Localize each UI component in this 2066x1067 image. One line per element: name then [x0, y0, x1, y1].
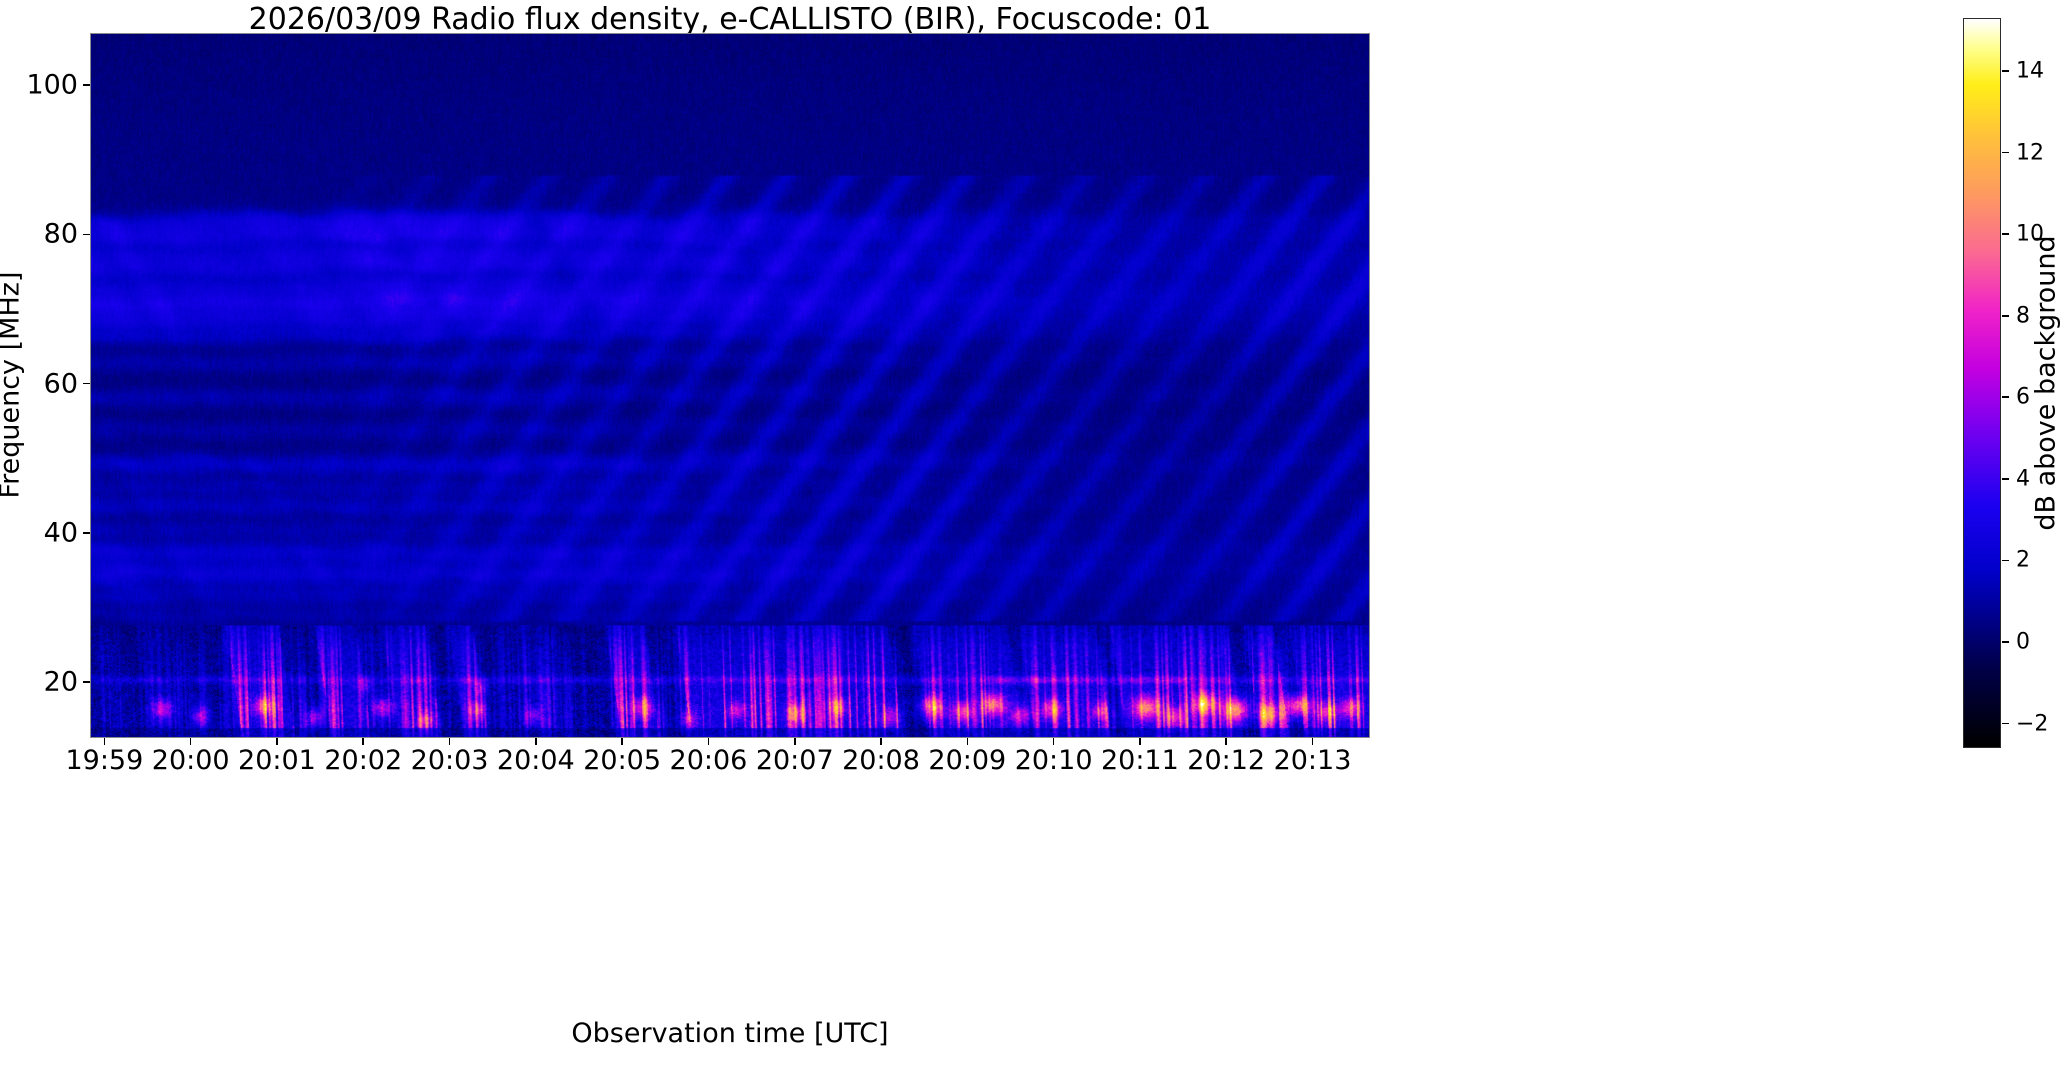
x-tick-mark — [1053, 738, 1055, 745]
x-tick-label: 20:05 — [583, 745, 661, 776]
colorbar-tick-mark — [2002, 723, 2009, 725]
colorbar-tick-label: 12 — [2016, 140, 2044, 165]
colorbar-tick-mark — [2002, 152, 2009, 154]
colorbar-tick-mark — [2002, 233, 2009, 235]
page-title: 2026/03/09 Radio flux density, e-CALLIST… — [90, 2, 1370, 37]
colorbar-tick-label: −2 — [2016, 711, 2048, 736]
figure-canvas: 2026/03/09 Radio flux density, e-CALLIST… — [0, 0, 2066, 1067]
colorbar-tick-label: 14 — [2016, 59, 2044, 84]
y-tick-mark — [83, 84, 90, 86]
x-axis-label: Observation time [UTC] — [90, 1018, 1370, 1049]
x-tick-mark — [449, 738, 451, 745]
y-axis-label: Frequency [MHz] — [0, 272, 26, 499]
x-tick-label: 20:07 — [756, 745, 834, 776]
x-tick-mark — [1139, 738, 1141, 745]
x-tick-label: 20:13 — [1274, 745, 1352, 776]
colorbar-gradient — [1964, 19, 2000, 747]
x-tick-mark — [104, 738, 106, 745]
y-tick-label: 40 — [44, 517, 78, 548]
x-tick-label: 20:02 — [324, 745, 402, 776]
x-tick-label: 20:09 — [928, 745, 1006, 776]
x-tick-label: 19:59 — [65, 745, 143, 776]
colorbar-tick-label: 0 — [2016, 629, 2030, 654]
y-tick-label: 80 — [44, 219, 78, 250]
x-tick-mark — [362, 738, 364, 745]
colorbar-tick-label: 4 — [2016, 466, 2030, 491]
y-tick-mark — [83, 383, 90, 385]
x-tick-mark — [794, 738, 796, 745]
spectrogram-plot[interactable] — [90, 33, 1370, 738]
x-tick-label: 20:00 — [152, 745, 230, 776]
x-tick-label: 20:04 — [497, 745, 575, 776]
x-tick-mark — [708, 738, 710, 745]
y-tick-label: 60 — [44, 368, 78, 399]
colorbar-label: dB above background — [2031, 235, 2062, 530]
spectrogram-image — [91, 34, 1369, 737]
y-tick-mark — [83, 532, 90, 534]
x-tick-label: 20:01 — [238, 745, 316, 776]
x-tick-label: 20:12 — [1187, 745, 1265, 776]
colorbar-tick-label: 6 — [2016, 385, 2030, 410]
x-tick-mark — [967, 738, 969, 745]
x-tick-mark — [190, 738, 192, 745]
colorbar-tick-mark — [2002, 396, 2009, 398]
colorbar[interactable] — [1963, 18, 2001, 748]
colorbar-tick-mark — [2002, 478, 2009, 480]
colorbar-tick-mark — [2002, 315, 2009, 317]
x-tick-mark — [1312, 738, 1314, 745]
x-tick-label: 20:03 — [411, 745, 489, 776]
x-tick-label: 20:06 — [670, 745, 748, 776]
y-tick-label: 100 — [26, 70, 78, 101]
colorbar-tick-label: 2 — [2016, 548, 2030, 573]
colorbar-tick-label: 8 — [2016, 303, 2030, 328]
x-tick-label: 20:10 — [1015, 745, 1093, 776]
x-tick-label: 20:11 — [1101, 745, 1179, 776]
colorbar-tick-mark — [2002, 70, 2009, 72]
y-tick-mark — [83, 234, 90, 236]
colorbar-tick-mark — [2002, 641, 2009, 643]
y-tick-label: 20 — [44, 667, 78, 698]
x-tick-mark — [621, 738, 623, 745]
x-tick-label: 20:08 — [842, 745, 920, 776]
x-tick-mark — [276, 738, 278, 745]
x-tick-mark — [880, 738, 882, 745]
y-tick-mark — [83, 681, 90, 683]
x-tick-mark — [1225, 738, 1227, 745]
colorbar-tick-mark — [2002, 560, 2009, 562]
x-tick-mark — [535, 738, 537, 745]
